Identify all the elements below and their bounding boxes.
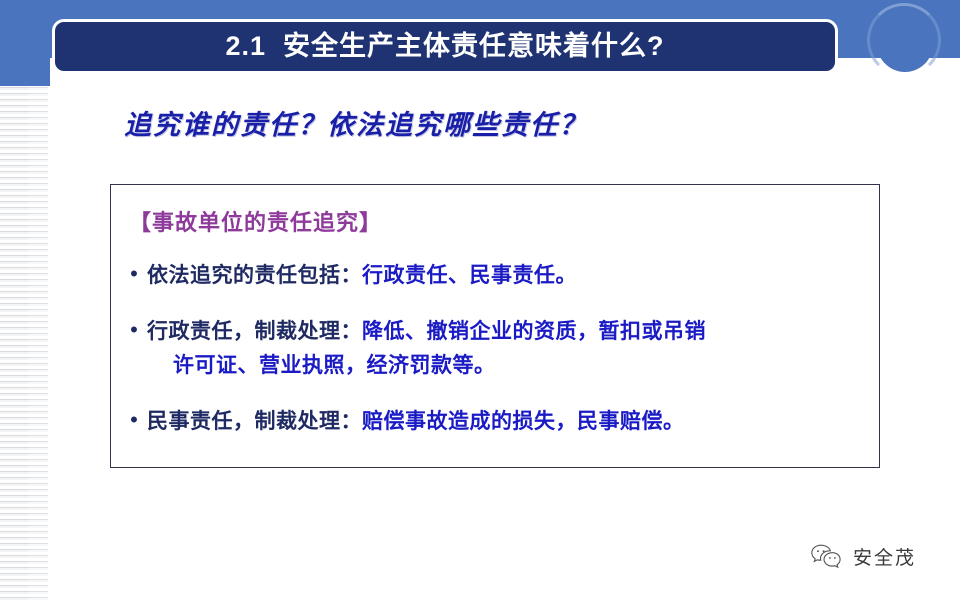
slide-canvas: 2.1 安全生产主体责任意味着什么? 追究谁的责任？依法追究哪些责任？ 【事故单… [0,0,960,601]
footer-brand-name: 安全茂 [853,543,916,570]
list-item-text-continuation: 许可证、营业执照，经济罚款等。 [173,349,871,383]
list-item-text-emphasis: 降低、撤销企业的资质，暂扣或吊销 [362,320,706,343]
bullet-marker-icon: • [121,259,147,289]
footer-brand: 安全茂 [810,543,916,570]
list-item-text-emphasis: 赔偿事故造成的损失，民事赔偿。 [362,410,685,433]
list-item-text: 民事责任，制裁处理：赔偿事故造成的损失，民事赔偿。 [147,405,871,439]
slide-subtitle: 追究谁的责任？依法追究哪些责任？ [124,103,588,142]
bullet-marker-icon: • [121,315,147,345]
list-item-text: 依法追究的责任包括：行政责任、民事责任。 [147,259,871,293]
list-item: • 依法追究的责任包括：行政责任、民事责任。 [121,259,871,293]
slide-title-bar: 2.1 安全生产主体责任意味着什么? [52,19,838,74]
list-item-text-lead: 依法追究的责任包括： [147,264,362,287]
content-box-header: 【事故单位的责任追究】 [129,205,382,237]
banner-left-cap [0,0,50,86]
left-stripe-decoration [0,0,28,601]
content-box: 【事故单位的责任追究】 • 依法追究的责任包括：行政责任、民事责任。 • 行政责… [110,184,880,468]
bullet-marker-icon: • [121,405,147,435]
page-title: 2.1 安全生产主体责任意味着什么? [225,33,664,60]
wechat-icon [810,543,844,570]
bullet-list: • 依法追究的责任包括：行政责任、民事责任。 • 行政责任，制裁处理：降低、撤销… [121,259,871,461]
list-item-text-lead: 行政责任，制裁处理： [147,320,362,343]
list-item-text-lead: 民事责任，制裁处理： [147,410,362,433]
list-item: • 民事责任，制裁处理：赔偿事故造成的损失，民事赔偿。 [121,405,871,439]
list-item-text: 行政责任，制裁处理：降低、撤销企业的资质，暂扣或吊销许可证、营业执照，经济罚款等… [147,315,871,383]
banner-arc-mask [877,16,933,72]
list-item: • 行政责任，制裁处理：降低、撤销企业的资质，暂扣或吊销许可证、营业执照，经济罚… [121,315,871,383]
left-stripe-decoration-secondary [28,0,48,601]
list-item-text-emphasis: 行政责任、民事责任。 [362,264,577,287]
